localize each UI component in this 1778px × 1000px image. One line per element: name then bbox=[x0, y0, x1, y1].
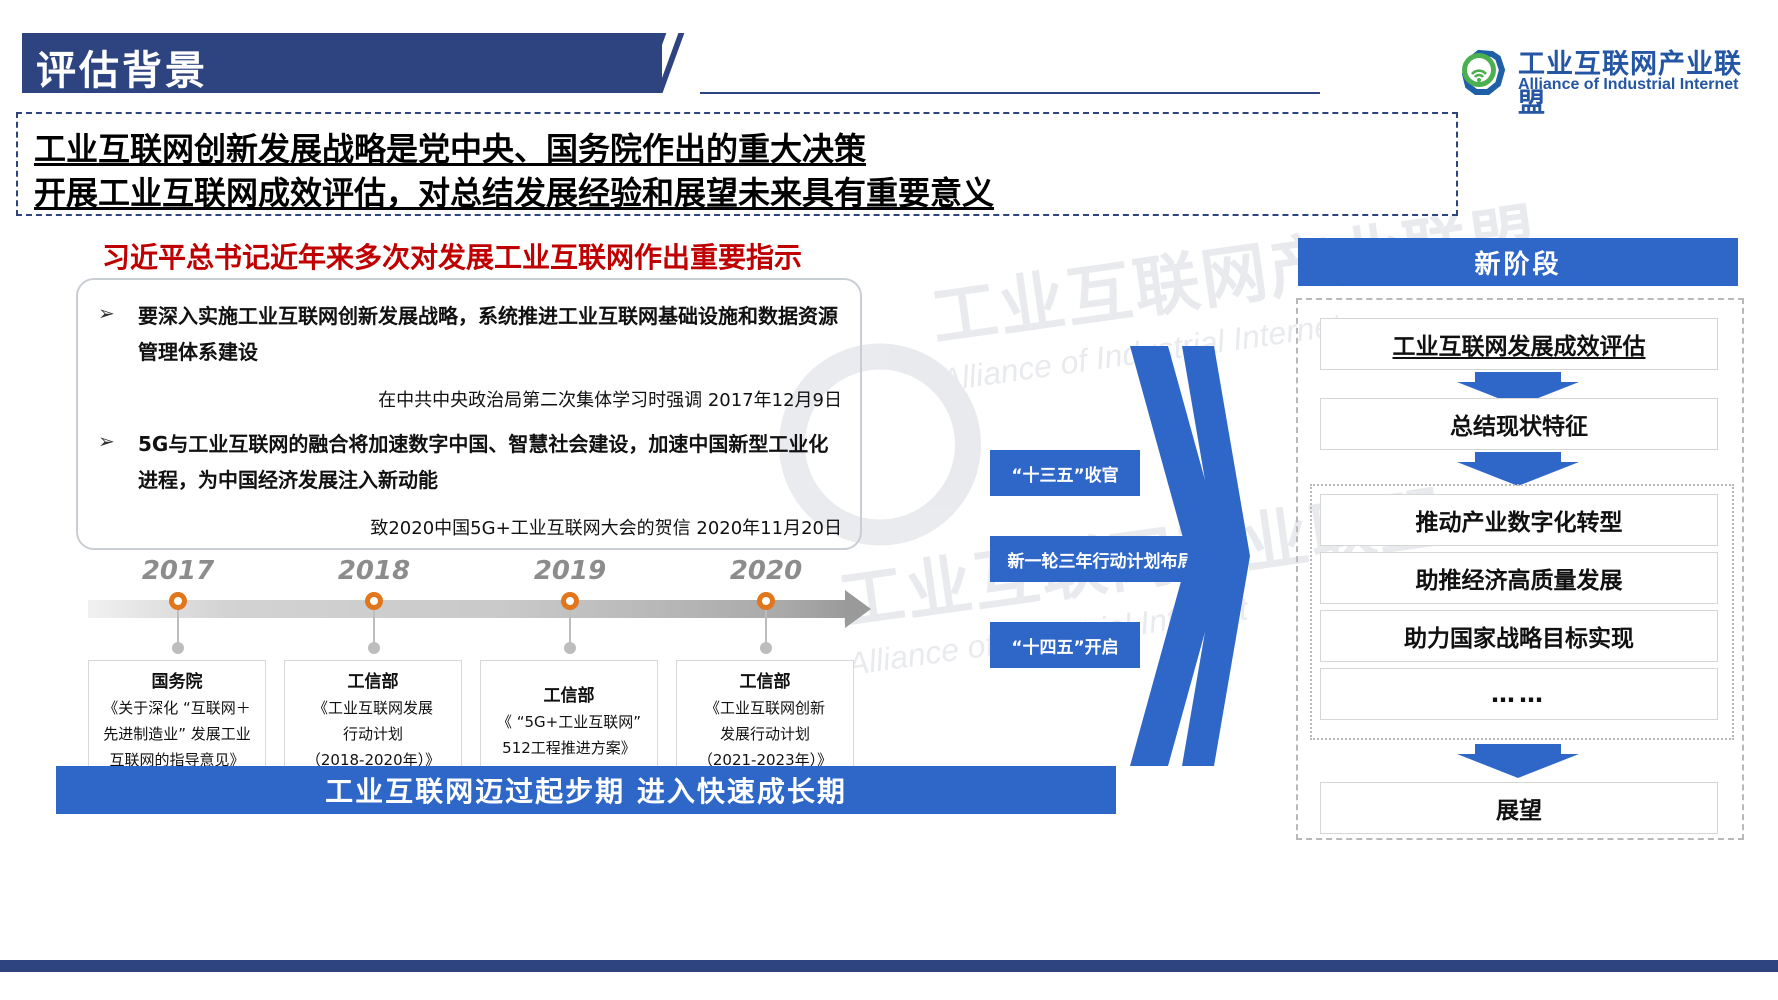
timeline-card-title: 工信部 bbox=[291, 669, 455, 695]
timeline-year: 2018 bbox=[284, 556, 464, 586]
timeline-dot-icon bbox=[760, 642, 772, 654]
banner-slash-decoration bbox=[648, 33, 694, 93]
quote-text-1: 要深入实施工业互联网创新发展战略，系统推进工业互联网基础设施和数据资源管理体系建… bbox=[138, 298, 842, 370]
timeline-pin-icon bbox=[169, 592, 187, 610]
double-chevron-icon bbox=[1130, 346, 1250, 766]
timeline-node-2017: 2017 国务院 《关于深化 “互联网＋ 先进制造业” 发展工业 互联网的指导意… bbox=[88, 556, 268, 586]
timeline-dot-icon bbox=[564, 642, 576, 654]
right-panel-bottom-box: 展望 bbox=[1320, 782, 1718, 834]
phase-label-1-text: “十三五”收官 bbox=[1011, 461, 1118, 486]
timeline-card-line: 《 “5G+工业互联网” bbox=[487, 709, 651, 735]
right-panel-header: 新阶段 bbox=[1298, 238, 1738, 286]
summary-bar: 工业互联网迈过起步期 进入快速成长期 bbox=[56, 766, 1116, 814]
timeline-dot-icon bbox=[172, 642, 184, 654]
subtitle-line-1: 工业互联网创新发展战略是党中央、国务院作出的重大决策 bbox=[34, 124, 866, 170]
right-panel-inner-box-2: 助推经济高质量发展 bbox=[1320, 552, 1718, 604]
quotes-card: ➢ 要深入实施工业互联网创新发展战略，系统推进工业互联网基础设施和数据资源管理体… bbox=[76, 278, 862, 550]
timeline-card-line: 《关于深化 “互联网＋ bbox=[95, 695, 259, 721]
quote-text-2: 5G与工业互联网的融合将加速数字中国、智慧社会建设，加速中国新型工业化进程，为中… bbox=[138, 426, 842, 498]
timeline-bar bbox=[88, 600, 848, 618]
bottom-white-strip bbox=[0, 972, 1778, 1000]
timeline-card-title: 工信部 bbox=[683, 669, 847, 695]
subtitle-box: 工业互联网创新发展战略是党中央、国务院作出的重大决策 开展工业互联网成效评估，对… bbox=[16, 112, 1458, 216]
right-panel-box-2-text: 总结现状特征 bbox=[1450, 407, 1588, 441]
timeline-pin-icon bbox=[365, 592, 383, 610]
summary-bar-text: 工业互联网迈过起步期 进入快速成长期 bbox=[325, 770, 847, 810]
quote-item-2: ➢ 5G与工业互联网的融合将加速数字中国、智慧社会建设，加速中国新型工业化进程，… bbox=[98, 426, 842, 498]
right-panel-inner-box-4-text: …… bbox=[1491, 680, 1547, 708]
right-panel-inner-box-1-text: 推动产业数字化转型 bbox=[1416, 503, 1623, 537]
timeline-card: 国务院 《关于深化 “互联网＋ 先进制造业” 发展工业 互联网的指导意见》 bbox=[88, 660, 266, 776]
bullet-arrow-icon: ➢ bbox=[98, 301, 115, 326]
flow-arrow-2-icon bbox=[1457, 452, 1579, 486]
right-panel-box-1-text: 工业互联网发展成效评估 bbox=[1393, 327, 1646, 361]
right-panel-inner-box-1: 推动产业数字化转型 bbox=[1320, 494, 1718, 546]
logo-text-en: Alliance of Industrial Internet bbox=[1518, 76, 1738, 94]
timeline-arrow-icon bbox=[845, 590, 871, 628]
phase-label-1: “十三五”收官 bbox=[990, 450, 1140, 496]
timeline-card-line: 512工程推进方案》 bbox=[487, 735, 651, 761]
right-panel-inner-box-3: 助力国家战略目标实现 bbox=[1320, 610, 1718, 662]
timeline-pin-icon bbox=[757, 592, 775, 610]
timeline-stem bbox=[765, 610, 767, 644]
timeline-stem bbox=[569, 610, 571, 644]
timeline-card-line: 《工业互联网创新 bbox=[683, 695, 847, 721]
quote-citation-1: 在中共中央政治局第二次集体学习时强调 2017年12月9日 bbox=[378, 386, 842, 412]
banner-rule bbox=[700, 92, 1320, 94]
phase-label-3-text: “十四五”开启 bbox=[1011, 633, 1118, 658]
right-panel-box-2: 总结现状特征 bbox=[1320, 398, 1718, 450]
timeline-card: 工信部 《工业互联网创新 发展行动计划 （2021-2023年）》 bbox=[676, 660, 854, 776]
subtitle-line-2: 开展工业互联网成效评估，对总结发展经验和展望未来具有重要意义 bbox=[34, 168, 994, 214]
timeline-card-line: 行动计划 bbox=[291, 721, 455, 747]
timeline-card-line: 先进制造业” 发展工业 bbox=[95, 721, 259, 747]
timeline-dot-icon bbox=[368, 642, 380, 654]
right-panel-inner-box-2-text: 助推经济高质量发展 bbox=[1416, 561, 1623, 595]
timeline-year: 2017 bbox=[88, 556, 268, 586]
right-panel-inner-box-3-text: 助力国家战略目标实现 bbox=[1404, 619, 1634, 653]
timeline-card-line: 《工业互联网发展 bbox=[291, 695, 455, 721]
timeline-node-2018: 2018 工信部 《工业互联网发展 行动计划 （2018-2020年）》 bbox=[284, 556, 464, 586]
timeline-card-line: 发展行动计划 bbox=[683, 721, 847, 747]
page-title: 评估背景 bbox=[36, 38, 208, 96]
bottom-strip bbox=[0, 960, 1778, 972]
gear-wifi-icon bbox=[1452, 44, 1508, 100]
flow-arrow-3-icon bbox=[1457, 744, 1579, 778]
timeline-year: 2020 bbox=[676, 556, 856, 586]
timeline-card-title: 工信部 bbox=[487, 683, 651, 709]
timeline-year: 2019 bbox=[480, 556, 660, 586]
timeline-card: 工信部 《 “5G+工业互联网” 512工程推进方案》 bbox=[480, 660, 658, 776]
quote-item-1: ➢ 要深入实施工业互联网创新发展战略，系统推进工业互联网基础设施和数据资源管理体… bbox=[98, 298, 842, 370]
phase-label-3: “十四五”开启 bbox=[990, 622, 1140, 668]
timeline-node-2020: 2020 工信部 《工业互联网创新 发展行动计划 （2021-2023年）》 bbox=[676, 556, 856, 586]
quotes-heading: 习近平总书记近年来多次对发展工业互联网作出重要指示 bbox=[102, 236, 802, 276]
right-panel-bottom-box-text: 展望 bbox=[1496, 791, 1542, 825]
timeline: 2017 国务院 《关于深化 “互联网＋ 先进制造业” 发展工业 互联网的指导意… bbox=[88, 556, 878, 756]
bullet-arrow-icon: ➢ bbox=[98, 429, 115, 454]
right-panel-header-text: 新阶段 bbox=[1474, 244, 1561, 281]
slide-root: 工业互联网产业联盟 Alliance of Industrial Interne… bbox=[0, 0, 1778, 1000]
timeline-card-title: 国务院 bbox=[95, 669, 259, 695]
brand-logo: 工业互联网产业联盟 Alliance of Industrial Interne… bbox=[1452, 42, 1762, 104]
timeline-stem bbox=[177, 610, 179, 644]
right-panel-box-1: 工业互联网发展成效评估 bbox=[1320, 318, 1718, 370]
timeline-node-2019: 2019 工信部 《 “5G+工业互联网” 512工程推进方案》 bbox=[480, 556, 660, 586]
phase-label-group: “十三五”收官 新一轮三年行动计划布局 “十四五”开启 bbox=[990, 350, 1150, 770]
right-panel-inner-box-4: …… bbox=[1320, 668, 1718, 720]
quote-citation-2: 致2020中国5G+工业互联网大会的贺信 2020年11月20日 bbox=[370, 514, 842, 540]
timeline-pin-icon bbox=[561, 592, 579, 610]
timeline-card: 工信部 《工业互联网发展 行动计划 （2018-2020年）》 bbox=[284, 660, 462, 776]
timeline-stem bbox=[373, 610, 375, 644]
